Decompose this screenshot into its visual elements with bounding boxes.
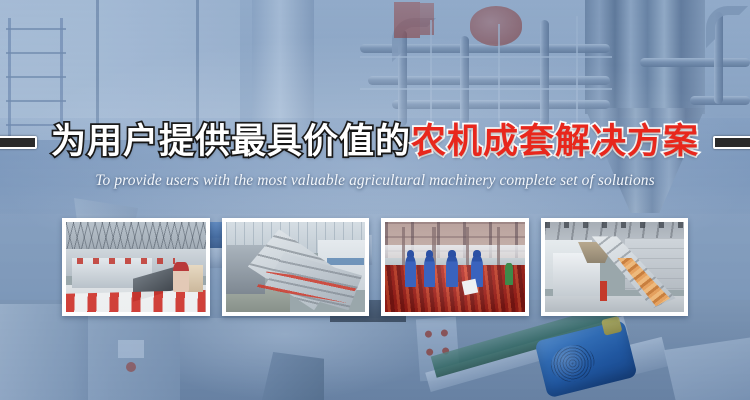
dash-left-icon (0, 136, 37, 149)
dash-right-icon (713, 136, 750, 149)
thumbnail-image (545, 222, 685, 312)
thumbnail-image (226, 222, 366, 312)
thumbnail-image (385, 222, 525, 312)
thumbnail-workers-spreading-red-chilies[interactable] (381, 218, 529, 316)
thumbnail-inclined-conveyor-red-produce[interactable] (222, 218, 370, 316)
subtitle: To provide users with the most valuable … (0, 172, 750, 190)
headline-white-text: 为用户提供最具价值的 (51, 122, 411, 162)
thumbnail-image (66, 222, 206, 312)
thumbnail-factory-hall-processing-line[interactable] (62, 218, 210, 316)
background-photo (0, 0, 750, 400)
thumbnail-strip (62, 218, 688, 316)
headline-red-text: 农机成套解决方案 (411, 122, 699, 162)
thumbnail-conveyor-golden-produce[interactable] (541, 218, 689, 316)
headline-row: 为用户提供最具价值的农机成套解决方案 (0, 124, 750, 161)
promo-banner: 为用户提供最具价值的农机成套解决方案 To provide users with… (0, 0, 750, 400)
page-title: 为用户提供最具价值的农机成套解决方案 (51, 124, 699, 161)
